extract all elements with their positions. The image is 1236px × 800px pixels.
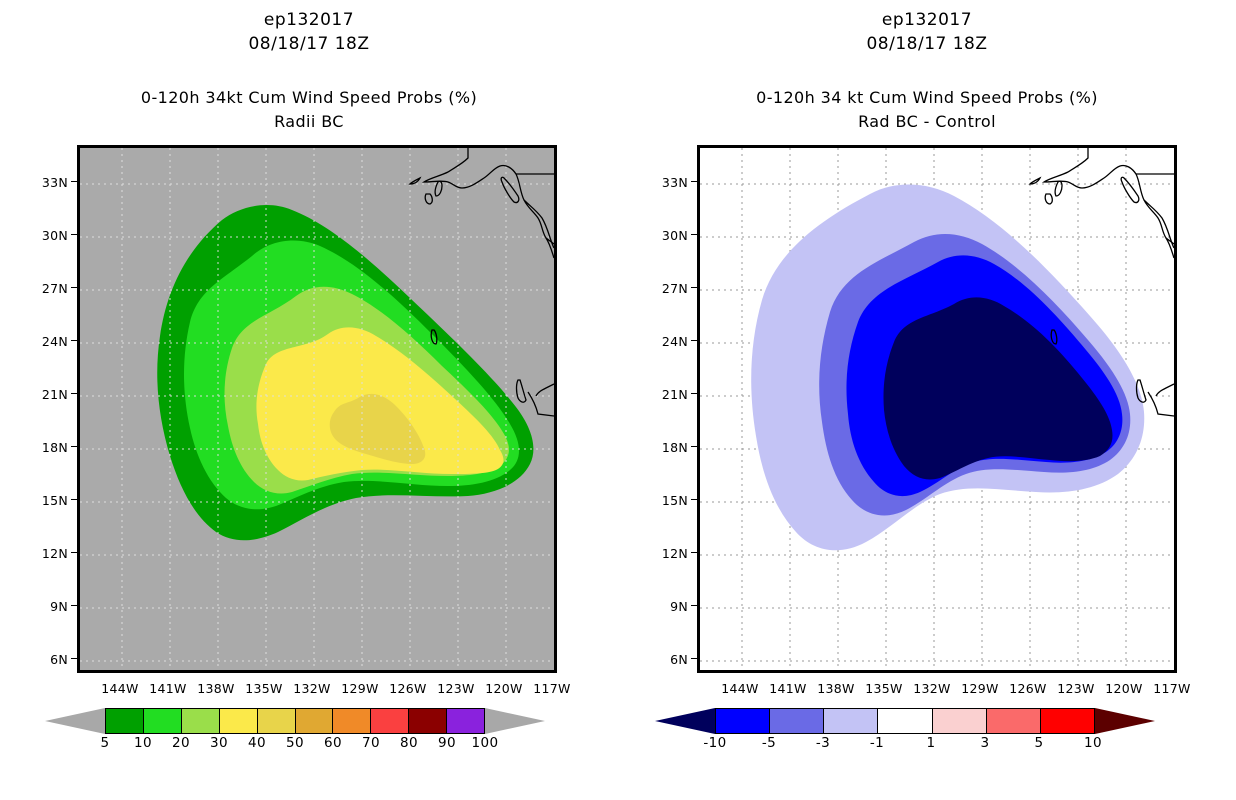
cbar-block-neg10 (716, 709, 770, 733)
lat-label: 6N (648, 652, 688, 667)
cbar-block-neg5 (770, 709, 824, 733)
lat-label: 30N (28, 228, 68, 243)
lon-label: 120W (1101, 681, 1147, 696)
lon-label: 126W (1005, 681, 1051, 696)
cbar-label: 100 (460, 735, 510, 751)
cbar-label: -10 (690, 735, 740, 751)
lat-label: 33N (28, 175, 68, 190)
panel-radii-bc: ep132017 08/18/17 18Z 0-120h 34kt Cum Wi… (0, 0, 618, 800)
lat-tick (71, 658, 77, 659)
lat-label: 21N (28, 387, 68, 402)
lat-tick (71, 340, 77, 341)
lon-label: 117W (529, 681, 575, 696)
chart-title-left: 0-120h 34kt Cum Wind Speed Probs (%) (0, 88, 618, 107)
lat-tick (691, 446, 697, 447)
colorbar-left: 5 10 20 30 40 50 60 70 80 90 100 (45, 708, 575, 766)
lat-tick (71, 234, 77, 235)
lon-label: 141W (765, 681, 811, 696)
cbar-block-70 (371, 709, 409, 733)
cbar-label: 1 (906, 735, 956, 751)
lon-label: 144W (97, 681, 143, 696)
storm-id-left: ep132017 (0, 10, 618, 30)
colorbar-swatch-row-right (655, 708, 1185, 734)
lon-label: 129W (957, 681, 1003, 696)
lat-tick (691, 605, 697, 606)
lon-label: 135W (861, 681, 907, 696)
cbar-label: -3 (798, 735, 848, 751)
lat-tick (71, 446, 77, 447)
lat-tick (691, 287, 697, 288)
lon-label: 138W (193, 681, 239, 696)
cbar-block-60 (333, 709, 371, 733)
lat-label: 15N (648, 493, 688, 508)
storm-id-right: ep132017 (618, 10, 1236, 30)
cbar-label: -1 (852, 735, 902, 751)
lat-label: 27N (648, 281, 688, 296)
lon-label: 138W (813, 681, 859, 696)
cbar-block-50 (296, 709, 334, 733)
panel-rad-bc-control: ep132017 08/18/17 18Z 0-120h 34 kt Cum W… (618, 0, 1236, 800)
lon-label: 135W (241, 681, 287, 696)
cbar-label: 5 (1014, 735, 1064, 751)
lat-label: 15N (28, 493, 68, 508)
lat-label: 9N (28, 599, 68, 614)
cbar-block-90 (447, 709, 484, 733)
lat-tick (71, 181, 77, 182)
cbar-label: -5 (744, 735, 794, 751)
lon-label: 144W (717, 681, 763, 696)
contour-fill-group-left (157, 205, 533, 540)
colorbar-under-arrow-left (45, 708, 105, 734)
lon-label: 117W (1149, 681, 1195, 696)
lat-label: 30N (648, 228, 688, 243)
lat-tick (691, 181, 697, 182)
date-label-right: 08/18/17 18Z (618, 34, 1236, 54)
cbar-block-pos3 (987, 709, 1041, 733)
cbar-block-20 (182, 709, 220, 733)
colorbar-labels-right: -10 -5 -3 -1 1 3 5 10 (655, 735, 1185, 757)
lon-label: 129W (337, 681, 383, 696)
lon-label: 126W (385, 681, 431, 696)
lat-label: 24N (648, 334, 688, 349)
colorbar-under-arrow-right (655, 708, 715, 734)
lon-label: 132W (289, 681, 335, 696)
chart-subtitle-left: Radii BC (0, 112, 618, 131)
colorbar-over-arrow-left (485, 708, 545, 734)
cbar-block-pos5 (1041, 709, 1094, 733)
cbar-block-neg3 (824, 709, 878, 733)
lon-label: 132W (909, 681, 955, 696)
lat-label: 33N (648, 175, 688, 190)
lat-tick (71, 605, 77, 606)
contour-fill-group-right (751, 184, 1144, 550)
cbar-block-80 (409, 709, 447, 733)
lat-tick (691, 340, 697, 341)
lat-label: 18N (648, 440, 688, 455)
date-label-left: 08/18/17 18Z (0, 34, 618, 54)
lon-label: 141W (145, 681, 191, 696)
map-plot-area-left (77, 145, 557, 673)
lat-label: 21N (648, 387, 688, 402)
lat-tick (691, 393, 697, 394)
cbar-label: 10 (1068, 735, 1118, 751)
cbar-block-pos1 (933, 709, 987, 733)
lon-label: 123W (433, 681, 479, 696)
lat-tick (691, 552, 697, 553)
lat-label: 9N (648, 599, 688, 614)
map-plot-area-right (697, 145, 1177, 673)
cbar-block-5 (106, 709, 144, 733)
lat-label: 18N (28, 440, 68, 455)
cbar-block-30 (220, 709, 258, 733)
lat-tick (71, 552, 77, 553)
colorbar-labels-left: 5 10 20 30 40 50 60 70 80 90 100 (45, 735, 575, 757)
lat-tick (71, 287, 77, 288)
lat-label: 12N (648, 546, 688, 561)
lat-tick (691, 499, 697, 500)
colorbar-blocks-left (105, 708, 485, 734)
colorbar-right: -10 -5 -3 -1 1 3 5 10 (655, 708, 1185, 766)
lon-label: 123W (1053, 681, 1099, 696)
lat-tick (71, 393, 77, 394)
cbar-block-40 (258, 709, 296, 733)
lat-label: 12N (28, 546, 68, 561)
lat-tick (691, 234, 697, 235)
lat-label: 24N (28, 334, 68, 349)
lon-label: 120W (481, 681, 527, 696)
cbar-label: 3 (960, 735, 1010, 751)
lat-label: 6N (28, 652, 68, 667)
cbar-block-neg1 (878, 709, 932, 733)
lat-tick (691, 658, 697, 659)
colorbar-swatch-row-left (45, 708, 575, 734)
colorbar-over-arrow-right (1095, 708, 1155, 734)
cbar-block-10 (144, 709, 182, 733)
chart-title-right: 0-120h 34 kt Cum Wind Speed Probs (%) (618, 88, 1236, 107)
chart-subtitle-right: Rad BC - Control (618, 112, 1236, 131)
colorbar-blocks-right (715, 708, 1095, 734)
lat-label: 27N (28, 281, 68, 296)
lat-tick (71, 499, 77, 500)
